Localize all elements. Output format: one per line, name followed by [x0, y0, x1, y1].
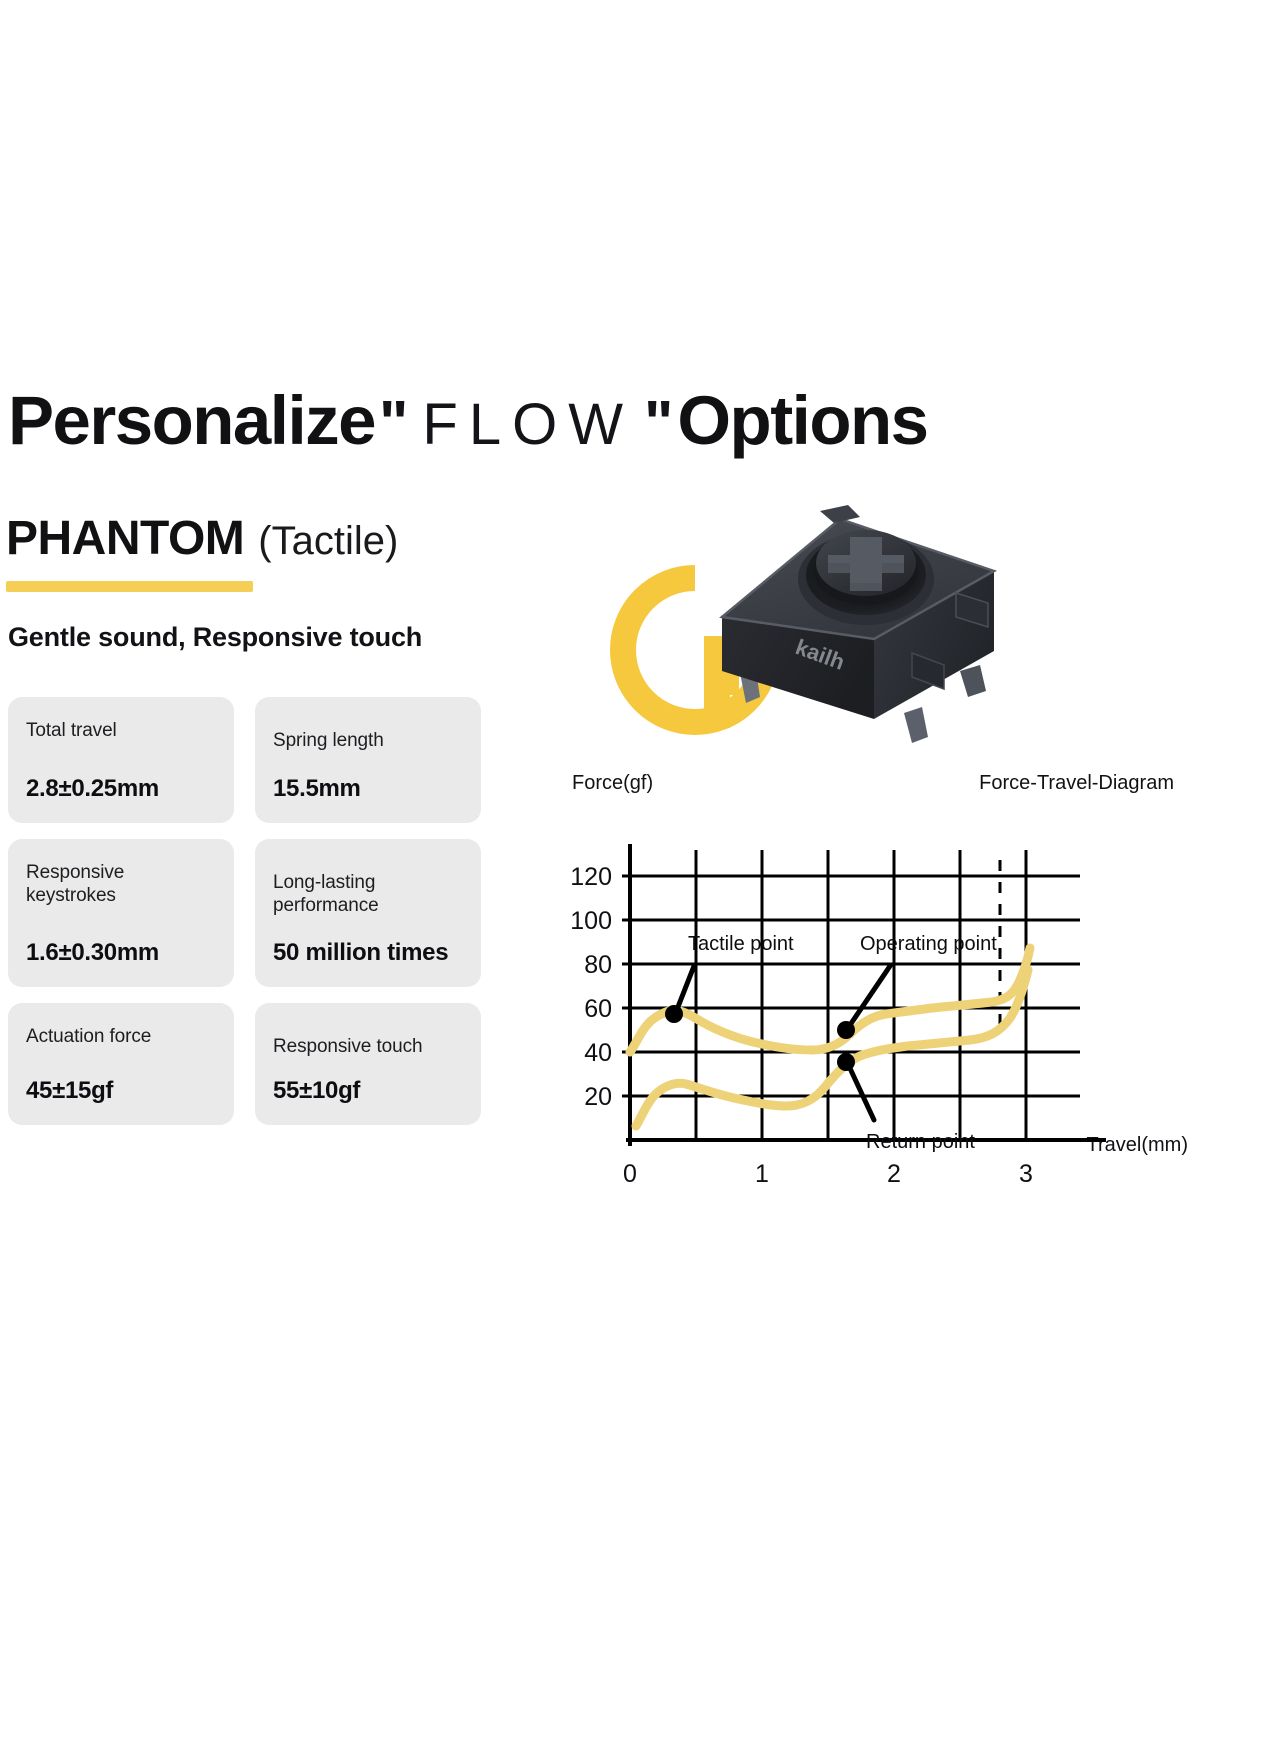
spec-card-spring-length: Spring length 15.5mm	[255, 697, 481, 823]
chart-ytick-120: 120	[570, 863, 612, 891]
headline-flow: FLOW	[412, 396, 640, 454]
spec-value: 2.8±0.25mm	[26, 761, 216, 803]
spec-value: 45±15gf	[26, 1063, 216, 1105]
specification-grid: Total travel 2.8±0.25mm Spring length 15…	[8, 697, 508, 1125]
operating-point-marker	[837, 1021, 855, 1039]
accent-underline-bar	[6, 581, 253, 592]
keyboard-switch-image: kailh	[698, 475, 1028, 765]
chart-xtick-0: 0	[623, 1160, 637, 1188]
annotation-label: Operating point	[860, 933, 997, 955]
spec-card-total-travel: Total travel 2.8±0.25mm	[8, 697, 234, 823]
spec-value: 15.5mm	[273, 761, 463, 803]
annotation-label: Return point	[866, 1131, 975, 1153]
return-point-marker	[837, 1053, 855, 1071]
spec-label: Spring length	[273, 719, 463, 752]
cross-stem-icon	[816, 530, 916, 596]
headline-quote-close: "	[640, 393, 677, 455]
spec-value: 50 million times	[273, 925, 463, 967]
page-headline: Personalize " FLOW " Options	[8, 386, 1278, 462]
chart-ytick-80: 80	[584, 951, 612, 979]
chart-ytick-20: 20	[584, 1083, 612, 1111]
tactile-point-marker	[665, 1005, 683, 1023]
spec-value: 55±10gf	[273, 1063, 463, 1105]
spec-card-actuation-force: Actuation force 45±15gf	[8, 1003, 234, 1125]
spec-card-long-lasting-performance: Long-lasting performance 50 million time…	[255, 839, 481, 987]
spec-label: Actuation force	[26, 1025, 216, 1048]
force-travel-chart: Force(gf) Force-Travel-Diagram Travel(mm…	[560, 762, 1180, 1202]
spec-label: Total travel	[26, 719, 216, 742]
headline-suffix: Options	[677, 386, 927, 455]
headline-quote-open: "	[375, 393, 412, 455]
chart-ytick-100: 100	[570, 907, 612, 935]
chart-title: Force-Travel-Diagram	[979, 772, 1174, 795]
spec-value: 1.6±0.30mm	[26, 925, 216, 967]
annotation-label: Tactile point	[688, 933, 794, 955]
chart-ytick-40: 40	[584, 1039, 612, 1067]
product-image-area: kailh	[590, 455, 1050, 775]
spec-label: Responsive touch	[273, 1025, 463, 1058]
spec-card-responsive-keystrokes: Responsive keystrokes 1.6±0.30mm	[8, 839, 234, 987]
headline-prefix: Personalize	[8, 386, 375, 455]
product-switch-type: (Tactile)	[244, 519, 398, 564]
chart-xtick-2: 2	[887, 1160, 901, 1188]
spec-label: Long-lasting performance	[273, 861, 463, 917]
product-name: PHANTOM	[6, 511, 244, 566]
chart-xtick-1: 1	[755, 1160, 769, 1188]
spec-card-responsive-touch: Responsive touch 55±10gf	[255, 1003, 481, 1125]
product-title-row: PHANTOM (Tactile)	[6, 511, 398, 566]
chart-ytick-60: 60	[584, 995, 612, 1023]
infographic-page: Personalize " FLOW " Options PHANTOM (Ta…	[0, 0, 1286, 1753]
chart-xtick-3: 3	[1019, 1160, 1033, 1188]
spec-label: Responsive keystrokes	[26, 861, 216, 907]
chart-plot-svg: 20 40 60 80 100 120 0 1 2 3 Tactile poin…	[560, 800, 1180, 1200]
chart-y-axis-label: Force(gf)	[572, 772, 653, 795]
product-tagline: Gentle sound, Responsive touch	[8, 622, 422, 653]
